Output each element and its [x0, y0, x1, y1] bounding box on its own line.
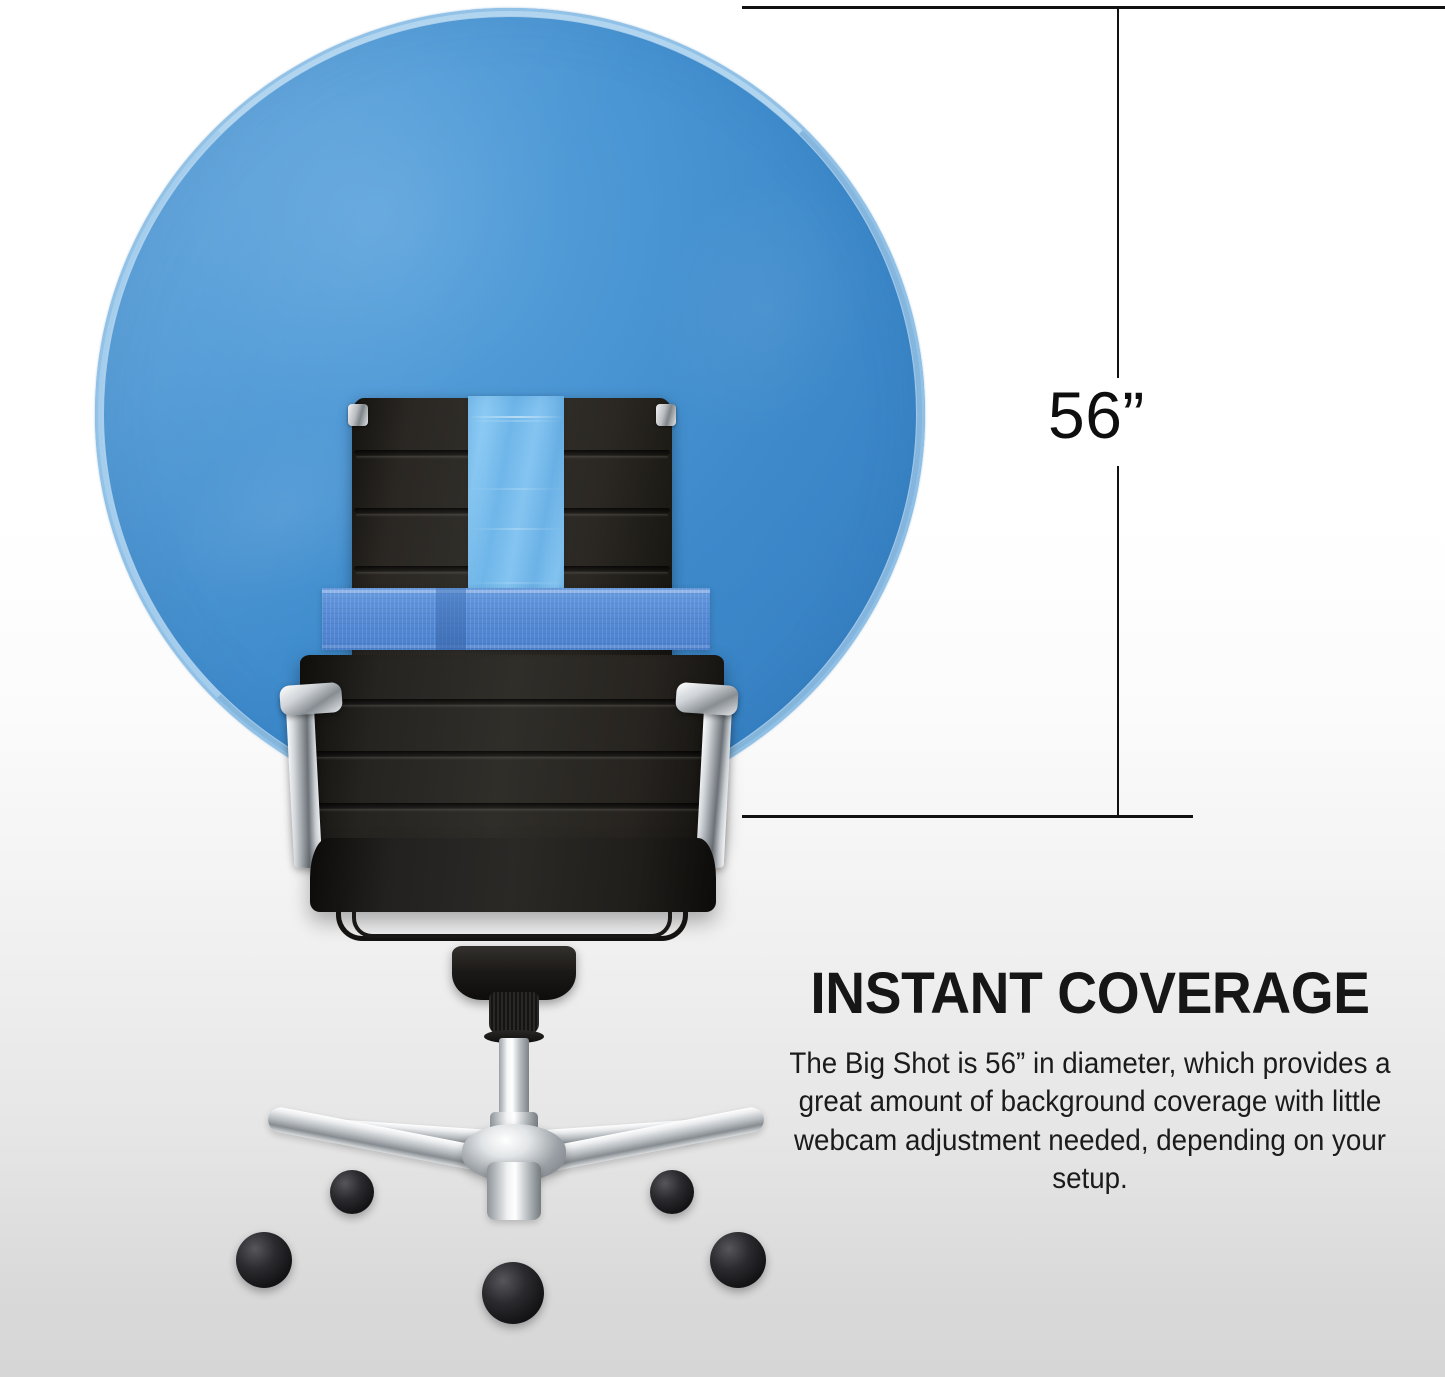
gas-cylinder: [499, 1038, 529, 1120]
caster-front-left: [236, 1232, 292, 1288]
marketing-copy-block: INSTANT COVERAGE The Big Shot is 56” in …: [745, 965, 1435, 1198]
height-adjust-knob: [489, 992, 539, 1034]
backrest-bracket-left: [348, 404, 368, 426]
chair-seat: [310, 838, 716, 912]
base-leg-center: [487, 1162, 541, 1220]
caster-mid-right: [650, 1170, 694, 1214]
caster-mid-left: [330, 1170, 374, 1214]
seat-frame-rail-inner: [352, 912, 672, 938]
dimension-line-upper: [1117, 6, 1119, 378]
product-feature-slide: 56” INSTANT COVERAGE The Big Shot is 56”…: [0, 0, 1445, 1377]
dimension-value-label: 56”: [1048, 382, 1145, 448]
caster-center: [482, 1262, 544, 1324]
caster-front-right: [710, 1232, 766, 1288]
feature-headline: INSTANT COVERAGE: [762, 965, 1418, 1023]
strap-overlap-shadow: [436, 588, 466, 650]
armrest-cap-right: [675, 682, 739, 716]
dimension-extension-line-top: [742, 6, 1445, 9]
chair-lower-backrest: [300, 655, 724, 865]
backrest-bracket-right: [656, 404, 676, 426]
dimension-line-lower: [1117, 466, 1119, 817]
dimension-extension-line-bottom: [742, 815, 1193, 818]
armrest-cap-left: [279, 682, 343, 716]
feature-body-text: The Big Shot is 56” in diameter, which p…: [766, 1045, 1415, 1198]
backdrop-velcro-strap: [322, 588, 710, 650]
